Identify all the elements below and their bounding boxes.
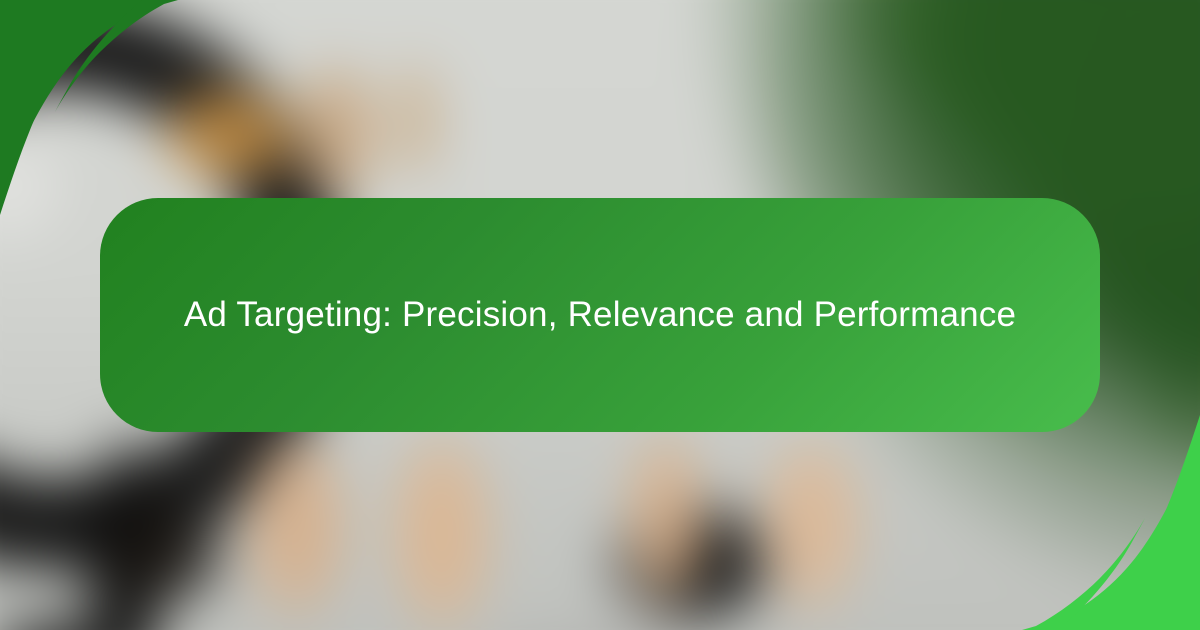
page-title: Ad Targeting: Precision, Relevance and P… (184, 287, 1016, 344)
social-share-banner: Ad Targeting: Precision, Relevance and P… (0, 0, 1200, 630)
title-card: Ad Targeting: Precision, Relevance and P… (100, 198, 1100, 432)
